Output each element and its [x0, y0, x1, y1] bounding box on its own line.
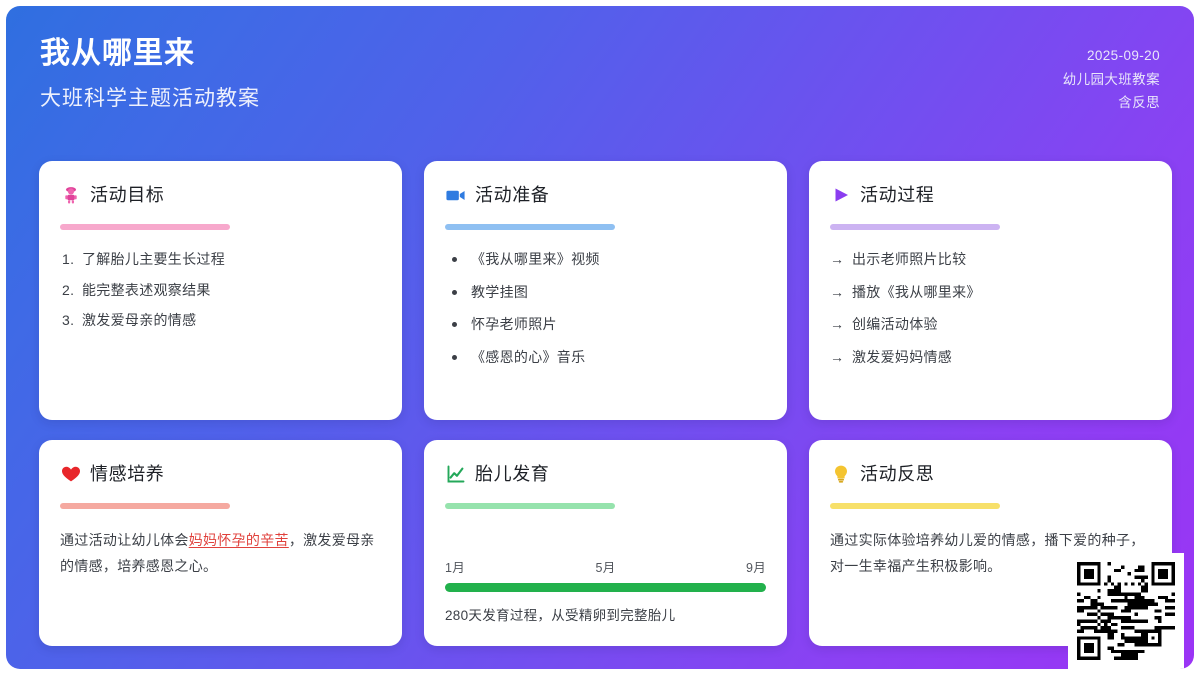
heart-icon — [60, 464, 81, 485]
card-paragraph: 通过活动让幼儿体会妈妈怀孕的辛苦，激发爱母亲的情感，培养感恩之心。 — [60, 528, 381, 580]
card-list: 出示老师照片比较播放《我从哪里来》创编活动体验激发爱妈妈情感 — [830, 249, 1151, 369]
card-body: 1月5月9月280天发育过程，从受精卵到完整胎儿 — [445, 528, 766, 628]
card-title: 活动反思 — [860, 465, 934, 483]
card-title: 胎儿发育 — [475, 465, 549, 483]
list-item: 激发爱母亲的情感 — [60, 310, 381, 332]
card-header: 活动目标 — [60, 183, 381, 207]
baby-icon — [60, 185, 81, 206]
timeline: 1月5月9月280天发育过程，从受精卵到完整胎儿 — [445, 557, 766, 628]
meta-category: 幼儿园大班教案 — [1063, 68, 1160, 92]
card-list: 《我从哪里来》视频教学挂图怀孕老师照片《感恩的心》音乐 — [445, 249, 766, 369]
lightbulb-icon — [830, 464, 851, 485]
timeline-label: 1月 — [445, 557, 465, 576]
list-item: 怀孕老师照片 — [445, 314, 766, 336]
card-activity-preparation: 活动准备《我从哪里来》视频教学挂图怀孕老师照片《感恩的心》音乐 — [424, 161, 787, 420]
card-body: 通过活动让幼儿体会妈妈怀孕的辛苦，激发爱母亲的情感，培养感恩之心。 — [60, 528, 381, 628]
card-accent-divider — [445, 224, 615, 230]
card-activity-process: 活动过程出示老师照片比较播放《我从哪里来》创编活动体验激发爱妈妈情感 — [809, 161, 1172, 420]
list-item: 《感恩的心》音乐 — [445, 347, 766, 369]
card-accent-divider — [60, 224, 230, 230]
card-header: 情感培养 — [60, 462, 381, 486]
timeline-progress-bar — [445, 583, 766, 592]
card-emotion-cultivation: 情感培养通过活动让幼儿体会妈妈怀孕的辛苦，激发爱母亲的情感，培养感恩之心。 — [39, 440, 402, 646]
page-title: 我从哪里来 — [40, 34, 260, 73]
header-meta: 2025-09-20 幼儿园大班教案 含反思 — [1063, 34, 1160, 115]
timeline-caption: 280天发育过程，从受精卵到完整胎儿 — [445, 606, 766, 626]
card-body: 出示老师照片比较播放《我从哪里来》创编活动体验激发爱妈妈情感 — [830, 249, 1151, 402]
chart-line-icon — [445, 464, 466, 485]
card-title: 情感培养 — [90, 465, 164, 483]
card-grid: 活动目标了解胎儿主要生长过程能完整表述观察结果激发爱母亲的情感活动准备《我从哪里… — [39, 161, 1179, 646]
card-fetal-development: 胎儿发育1月5月9月280天发育过程，从受精卵到完整胎儿 — [424, 440, 787, 646]
card-accent-divider — [830, 224, 1000, 230]
list-item: 播放《我从哪里来》 — [830, 282, 1151, 304]
card-accent-divider — [445, 503, 615, 509]
card-list: 了解胎儿主要生长过程能完整表述观察结果激发爱母亲的情感 — [60, 249, 381, 332]
qr-code[interactable] — [1068, 553, 1184, 669]
card-accent-divider — [60, 503, 230, 509]
card-title: 活动准备 — [475, 186, 549, 204]
meta-date: 2025-09-20 — [1063, 44, 1160, 68]
header-left: 我从哪里来 大班科学主题活动教案 — [40, 34, 260, 112]
card-body: 《我从哪里来》视频教学挂图怀孕老师照片《感恩的心》音乐 — [445, 249, 766, 402]
paragraph-highlight: 妈妈怀孕的辛苦 — [189, 532, 289, 548]
card-header: 活动过程 — [830, 183, 1151, 207]
poster: 我从哪里来 大班科学主题活动教案 2025-09-20 幼儿园大班教案 含反思 … — [0, 0, 1200, 675]
list-item: 了解胎儿主要生长过程 — [60, 249, 381, 271]
timeline-label: 5月 — [595, 557, 615, 576]
card-title: 活动过程 — [860, 186, 934, 204]
card-header: 胎儿发育 — [445, 462, 766, 486]
list-item: 《我从哪里来》视频 — [445, 249, 766, 271]
list-item: 出示老师照片比较 — [830, 249, 1151, 271]
list-item: 创编活动体验 — [830, 314, 1151, 336]
card-title: 活动目标 — [90, 186, 164, 204]
timeline-label: 9月 — [746, 557, 766, 576]
play-triangle-icon — [830, 185, 851, 206]
poster-background: 我从哪里来 大班科学主题活动教案 2025-09-20 幼儿园大班教案 含反思 … — [6, 6, 1194, 669]
card-body: 了解胎儿主要生长过程能完整表述观察结果激发爱母亲的情感 — [60, 249, 381, 402]
paragraph-text-before: 通过活动让幼儿体会 — [60, 532, 189, 548]
card-header: 活动反思 — [830, 462, 1151, 486]
card-accent-divider — [830, 503, 1000, 509]
header: 我从哪里来 大班科学主题活动教案 2025-09-20 幼儿园大班教案 含反思 — [6, 6, 1194, 156]
card-header: 活动准备 — [445, 183, 766, 207]
qr-code-image — [1077, 562, 1175, 660]
page-subtitle: 大班科学主题活动教案 — [40, 85, 260, 112]
list-item: 能完整表述观察结果 — [60, 280, 381, 302]
video-camera-icon — [445, 185, 466, 206]
list-item: 激发爱妈妈情感 — [830, 347, 1151, 369]
timeline-labels: 1月5月9月 — [445, 557, 766, 576]
card-activity-goals: 活动目标了解胎儿主要生长过程能完整表述观察结果激发爱母亲的情感 — [39, 161, 402, 420]
list-item: 教学挂图 — [445, 282, 766, 304]
meta-note: 含反思 — [1063, 91, 1160, 115]
